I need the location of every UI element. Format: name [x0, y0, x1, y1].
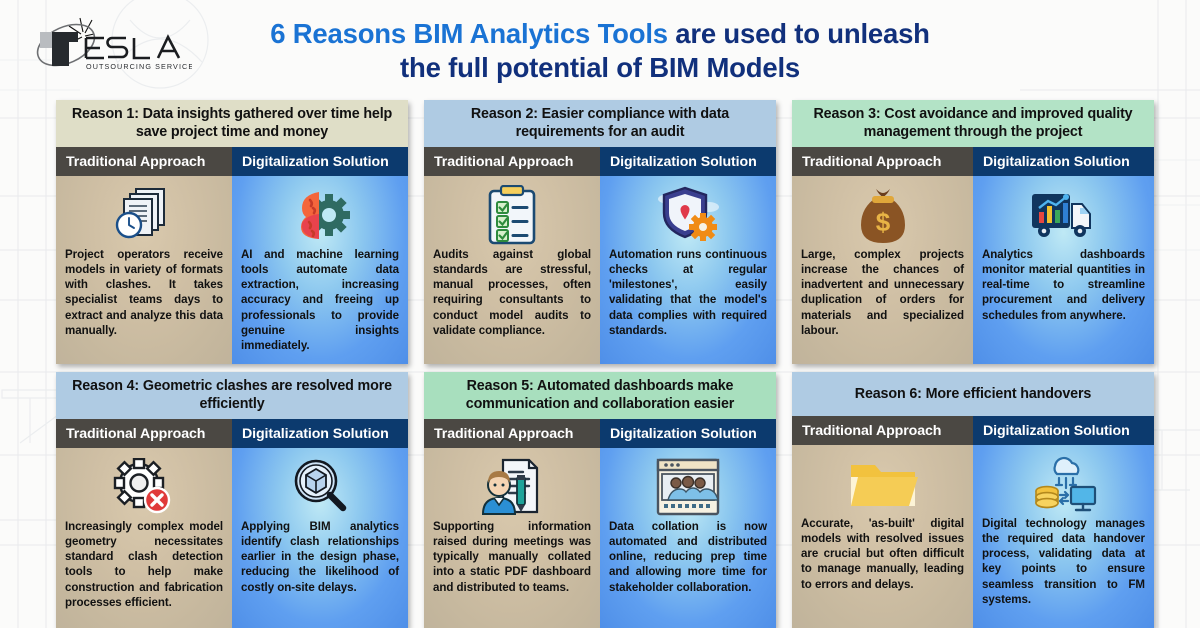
traditional-column-5: Supporting information raised during mee… — [424, 448, 600, 628]
reason-card-1[interactable]: Reason 1: Data insights gathered over ti… — [56, 100, 408, 364]
svg-text:$: $ — [875, 207, 890, 237]
traditional-header-4: Traditional Approach — [56, 419, 232, 448]
digital-text-3: Analytics dashboards monitor material qu… — [982, 248, 1145, 356]
card-column-headers-4: Traditional Approach Digitalization Solu… — [56, 419, 408, 448]
digital-header-3: Digitalization Solution — [973, 147, 1154, 176]
digital-column-1: AI and machine learning tools automate d… — [232, 176, 408, 364]
traditional-header-5: Traditional Approach — [424, 419, 600, 448]
digital-column-6: Digital technology manages the required … — [973, 445, 1154, 628]
page-header: OUTSOURCING SERVICES 6 Reasons BIM Analy… — [0, 0, 1200, 96]
traditional-text-1: Project operators receive models in vari… — [65, 248, 223, 356]
digital-column-4: Applying BIM analytics identify clash re… — [232, 448, 408, 628]
card-column-headers-2: Traditional Approach Digitalization Solu… — [424, 147, 776, 176]
card-body-1: Project operators receive models in vari… — [56, 176, 408, 364]
card-body-4: Increasingly complex model geometry nece… — [56, 448, 408, 628]
card-title-3: Reason 3: Cost avoidance and improved qu… — [792, 100, 1154, 147]
title-highlight: 6 Reasons BIM Analytics Tools — [270, 18, 668, 49]
browser-team-icon — [609, 454, 767, 520]
page-title: 6 Reasons BIM Analytics Tools are used t… — [200, 17, 1000, 84]
svg-text:OUTSOURCING SERVICES: OUTSOURCING SERVICES — [86, 62, 192, 71]
digital-header-6: Digitalization Solution — [973, 416, 1154, 445]
card-body-3: $ Large, complex projects increase the c… — [792, 176, 1154, 364]
digital-text-4: Applying BIM analytics identify clash re… — [241, 520, 399, 620]
card-column-headers-6: Traditional Approach Digitalization Solu… — [792, 416, 1154, 445]
traditional-text-6: Accurate, 'as-built' digital models with… — [801, 517, 964, 620]
digital-text-2: Automation runs continuous checks at reg… — [609, 248, 767, 356]
digital-text-6: Digital technology manages the required … — [982, 517, 1145, 620]
reason-card-3[interactable]: Reason 3: Cost avoidance and improved qu… — [792, 100, 1154, 364]
card-title-5: Reason 5: Automated dashboards make comm… — [424, 372, 776, 419]
card-column-headers-5: Traditional Approach Digitalization Solu… — [424, 419, 776, 448]
gear-error-icon — [65, 454, 223, 520]
digital-text-1: AI and machine learning tools automate d… — [241, 248, 399, 356]
card-body-5: Supporting information raised during mee… — [424, 448, 776, 628]
digital-header-5: Digitalization Solution — [600, 419, 776, 448]
digital-header-4: Digitalization Solution — [232, 419, 408, 448]
card-body-2: Audits against global standards are stre… — [424, 176, 776, 364]
traditional-text-3: Large, complex projects increase the cha… — [801, 248, 964, 356]
card-column-headers-3: Traditional Approach Digitalization Solu… — [792, 147, 1154, 176]
card-title-6: Reason 6: More efficient handovers — [792, 372, 1154, 416]
reason-card-5[interactable]: Reason 5: Automated dashboards make comm… — [424, 372, 776, 628]
person-document-pen-icon — [433, 454, 591, 520]
traditional-column-3: $ Large, complex projects increase the c… — [792, 176, 973, 364]
digital-text-5: Data collation is now automated and dist… — [609, 520, 767, 620]
money-bag-icon: $ — [801, 182, 964, 248]
folder-icon — [801, 451, 964, 517]
clipboard-checklist-icon — [433, 182, 591, 248]
delivery-truck-chart-icon — [982, 182, 1145, 248]
digital-column-2: Automation runs continuous checks at reg… — [600, 176, 776, 364]
traditional-column-6: Accurate, 'as-built' digital models with… — [792, 445, 973, 628]
documents-clock-icon — [65, 182, 223, 248]
cloud-database-monitor-icon — [982, 451, 1145, 517]
traditional-column-2: Audits against global standards are stre… — [424, 176, 600, 364]
traditional-text-5: Supporting information raised during mee… — [433, 520, 591, 620]
traditional-column-1: Project operators receive models in vari… — [56, 176, 232, 364]
digital-header-1: Digitalization Solution — [232, 147, 408, 176]
traditional-header-3: Traditional Approach — [792, 147, 973, 176]
traditional-text-4: Increasingly complex model geometry nece… — [65, 520, 223, 620]
digital-column-5: Data collation is now automated and dist… — [600, 448, 776, 628]
digital-column-3: Analytics dashboards monitor material qu… — [973, 176, 1154, 364]
traditional-header-1: Traditional Approach — [56, 147, 232, 176]
card-title-4: Reason 4: Geometric clashes are resolved… — [56, 372, 408, 419]
traditional-header-6: Traditional Approach — [792, 416, 973, 445]
tesla-outsourcing-logo: OUTSOURCING SERVICES — [22, 14, 192, 76]
brain-gear-icon — [241, 182, 399, 248]
magnifier-cube-icon — [241, 454, 399, 520]
shield-gear-icon — [609, 182, 767, 248]
reason-card-6[interactable]: Reason 6: More efficient handovers Tradi… — [792, 372, 1154, 628]
card-title-1: Reason 1: Data insights gathered over ti… — [56, 100, 408, 147]
traditional-text-2: Audits against global standards are stre… — [433, 248, 591, 356]
reason-card-2[interactable]: Reason 2: Easier compliance with data re… — [424, 100, 776, 364]
title-line2: the full potential of BIM Models — [400, 52, 800, 83]
card-body-6: Accurate, 'as-built' digital models with… — [792, 445, 1154, 628]
traditional-header-2: Traditional Approach — [424, 147, 600, 176]
digital-header-2: Digitalization Solution — [600, 147, 776, 176]
card-column-headers-1: Traditional Approach Digitalization Solu… — [56, 147, 408, 176]
reasons-grid: Reason 1: Data insights gathered over ti… — [56, 100, 1156, 620]
reason-card-4[interactable]: Reason 4: Geometric clashes are resolved… — [56, 372, 408, 628]
title-rest: are used to unleash — [668, 18, 930, 49]
traditional-column-4: Increasingly complex model geometry nece… — [56, 448, 232, 628]
card-title-2: Reason 2: Easier compliance with data re… — [424, 100, 776, 147]
